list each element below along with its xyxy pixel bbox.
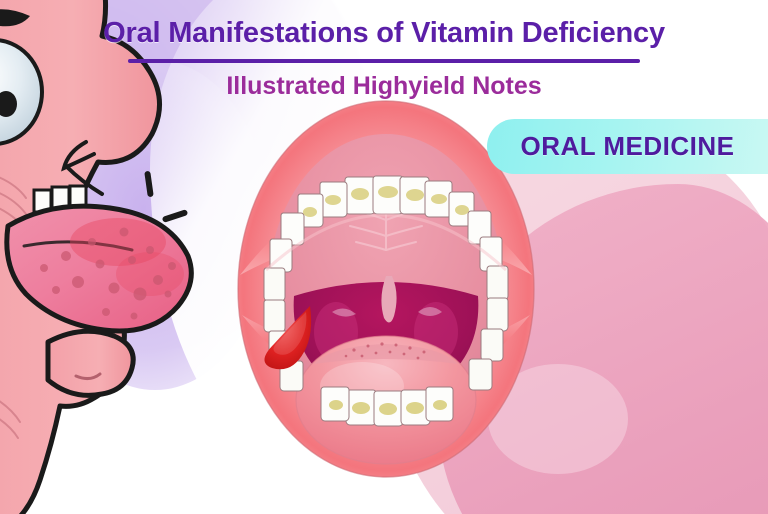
page-title: Oral Manifestations of Vitamin Deficienc…: [0, 18, 768, 50]
title-divider: [128, 59, 640, 63]
page-subtitle: Illustrated Highyield Notes: [0, 73, 768, 101]
emphasis-dashes-icon: [130, 165, 220, 245]
poster-canvas: Oral Manifestations of Vitamin Deficienc…: [0, 0, 768, 514]
category-badge[interactable]: ORAL MEDICINE: [487, 119, 768, 174]
header-block: Oral Manifestations of Vitamin Deficienc…: [0, 18, 768, 100]
category-badge-label: ORAL MEDICINE: [520, 131, 734, 162]
